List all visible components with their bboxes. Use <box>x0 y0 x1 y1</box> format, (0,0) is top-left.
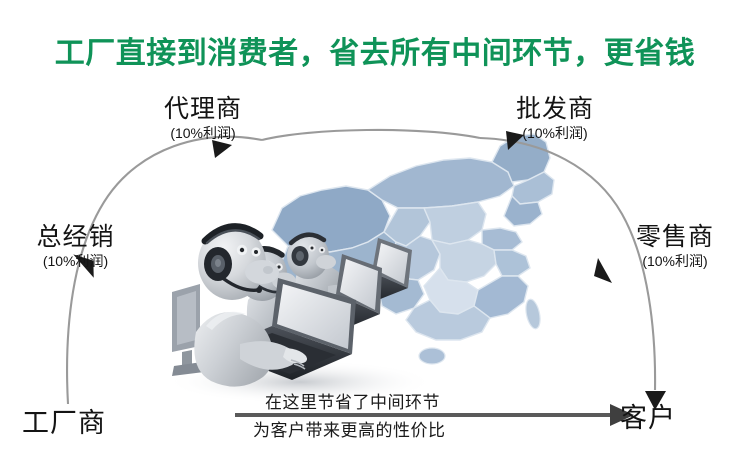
node-wholesaler-name: 批发商 <box>480 94 630 124</box>
node-retailer: 零售商 (10%利润) <box>605 222 745 270</box>
node-factory: 工厂商 <box>22 405 152 441</box>
node-retailer-profit: (10%利润) <box>605 252 745 270</box>
node-factory-name: 工厂商 <box>22 405 152 441</box>
caption-value: 为客户带来更高的性价比 <box>253 420 446 442</box>
node-agent-name: 代理商 <box>128 94 278 124</box>
node-distributor-profit: (10%利润) <box>8 252 143 270</box>
caption-savings: 在这里节省了中间环节 <box>265 392 440 414</box>
arrowhead-to-agent <box>212 140 232 158</box>
node-agent: 代理商 (10%利润) <box>128 94 278 142</box>
infographic-canvas: .arcline { fill: none; stroke: #9a9a9a; … <box>0 0 750 452</box>
node-retailer-name: 零售商 <box>605 222 745 252</box>
arc-left-path <box>67 137 262 404</box>
node-wholesaler-profit: (10%利润) <box>480 124 630 142</box>
node-distributor: 总经销 (10%利润) <box>8 222 143 270</box>
node-customer: 客户 <box>620 400 740 436</box>
arc-apex-path <box>262 130 480 140</box>
node-customer-name: 客户 <box>620 400 740 436</box>
node-wholesaler: 批发商 (10%利润) <box>480 94 630 142</box>
node-distributor-name: 总经销 <box>8 222 143 252</box>
node-agent-profit: (10%利润) <box>128 124 278 142</box>
